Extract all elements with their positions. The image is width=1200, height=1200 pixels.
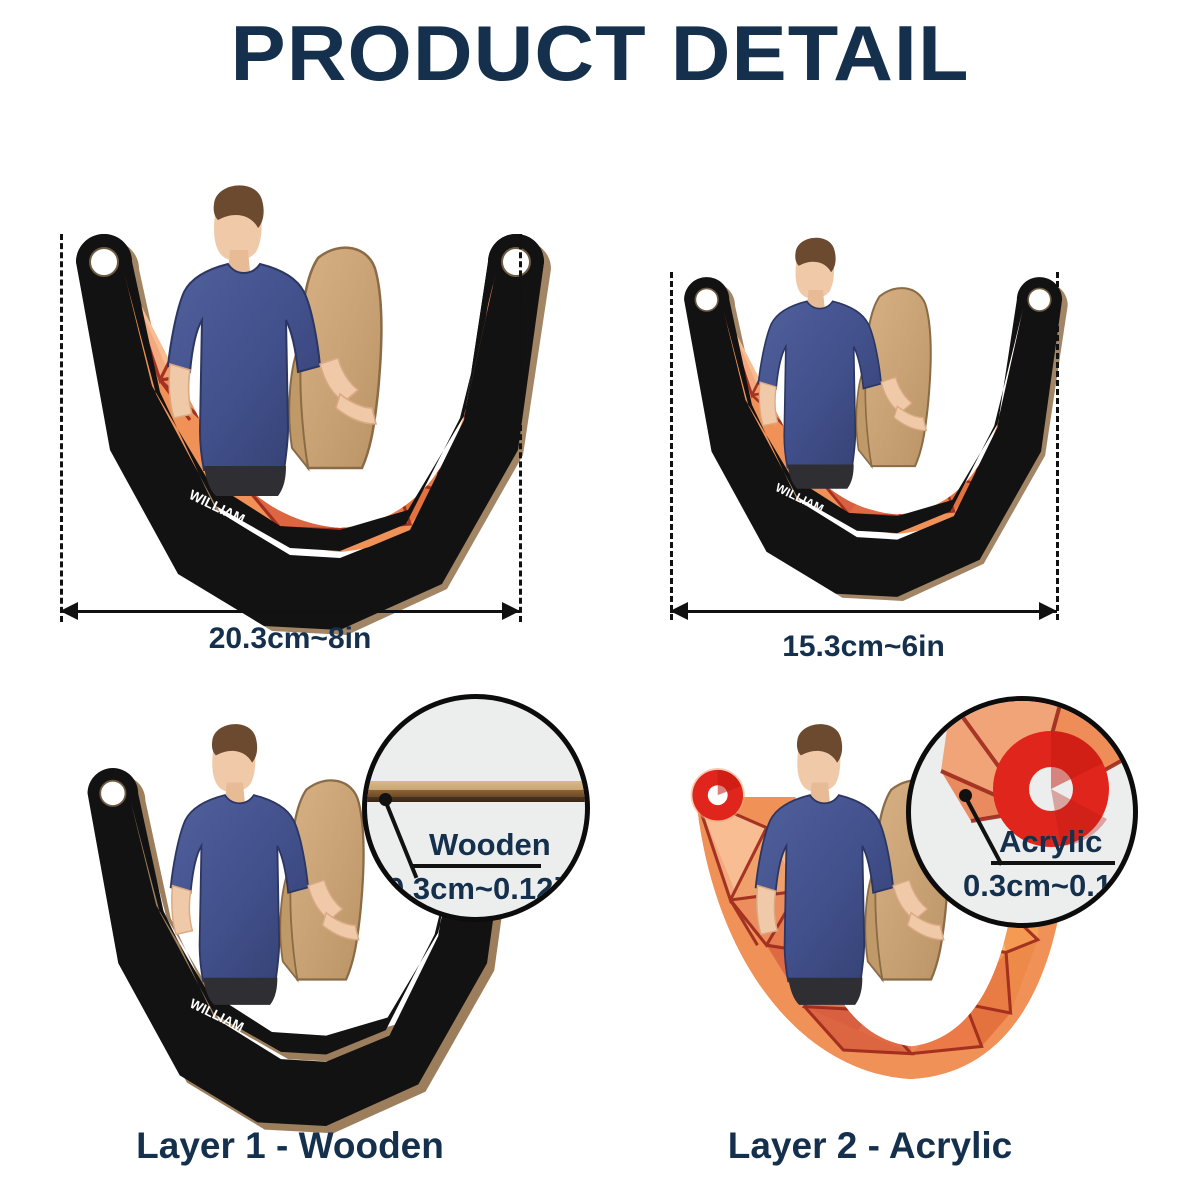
man-left-arm [172, 886, 193, 935]
dim-line-small [670, 610, 1057, 613]
engraved-name-right: TOBI [353, 486, 390, 513]
artwork-man-and-dog [171, 724, 364, 1005]
dim-guide-left-large [60, 234, 63, 622]
dim-label-large: 20.3cm~8in [60, 622, 520, 656]
man-pants [787, 464, 853, 488]
engraved-name-right: TOBI [908, 479, 940, 503]
page-title: PRODUCT DETAIL [0, 8, 1200, 99]
dim-guide-left-small [670, 272, 673, 620]
dim-arrow-left-large [60, 602, 78, 620]
wood-edge-dark [362, 797, 590, 802]
artwork-man-and-dog [168, 185, 382, 496]
dim-arrow-right-small [1039, 602, 1057, 620]
dim-arrow-right-large [502, 602, 520, 620]
product-panel-size-small: WILLIAM TOBI [655, 230, 1075, 560]
dim-arrow-left-small [670, 602, 688, 620]
wood-edge-mid [362, 790, 590, 797]
ornament-illustration-small: WILLIAM TOBI [655, 230, 1075, 560]
man-pants [204, 466, 286, 496]
product-panel-size-large: WILLIAM TOBI [40, 180, 560, 580]
ornament-illustration-large: WILLIAM TOBI [40, 180, 560, 580]
acrylic-grommet-left [691, 768, 745, 822]
product-detail-infographic: PRODUCT DETAIL [0, 0, 1200, 1200]
callout-acrylic-thickness: Acrylic 0.3cm~0.12in [906, 696, 1138, 928]
dim-guide-right-small [1056, 272, 1059, 620]
dim-line-large [60, 610, 520, 613]
callout-thickness-label: 0.3cm~0.12in [963, 868, 1138, 904]
caption-layer-wooden: Layer 1 - Wooden [60, 1125, 520, 1167]
artwork-man-and-dog [758, 238, 930, 489]
callout-material-label: Acrylic [999, 824, 1102, 860]
caption-layer-acrylic: Layer 2 - Acrylic [640, 1125, 1100, 1167]
callout-wooden-content: Wooden 0.3cm~0.12in [367, 699, 585, 917]
man-left-arm [759, 382, 777, 426]
callout-thickness-label: 0.3cm~0.12in [387, 871, 581, 907]
man-left-arm [757, 886, 778, 935]
callout-divider-rule [413, 864, 541, 868]
callout-wooden-thickness: Wooden 0.3cm~0.12in [362, 694, 590, 922]
callout-material-label: Wooden [429, 827, 551, 863]
callout-divider-rule [991, 861, 1115, 865]
man-left-arm [169, 364, 192, 418]
man-pants [203, 978, 277, 1005]
dim-label-small: 15.3cm~6in [670, 630, 1057, 664]
engraved-name-right: TOBI [338, 994, 373, 1020]
man-pants [788, 978, 862, 1005]
wood-edge-light [362, 781, 590, 790]
callout-acrylic-content: Acrylic 0.3cm~0.12in [911, 701, 1133, 923]
dim-guide-right-large [519, 234, 522, 622]
